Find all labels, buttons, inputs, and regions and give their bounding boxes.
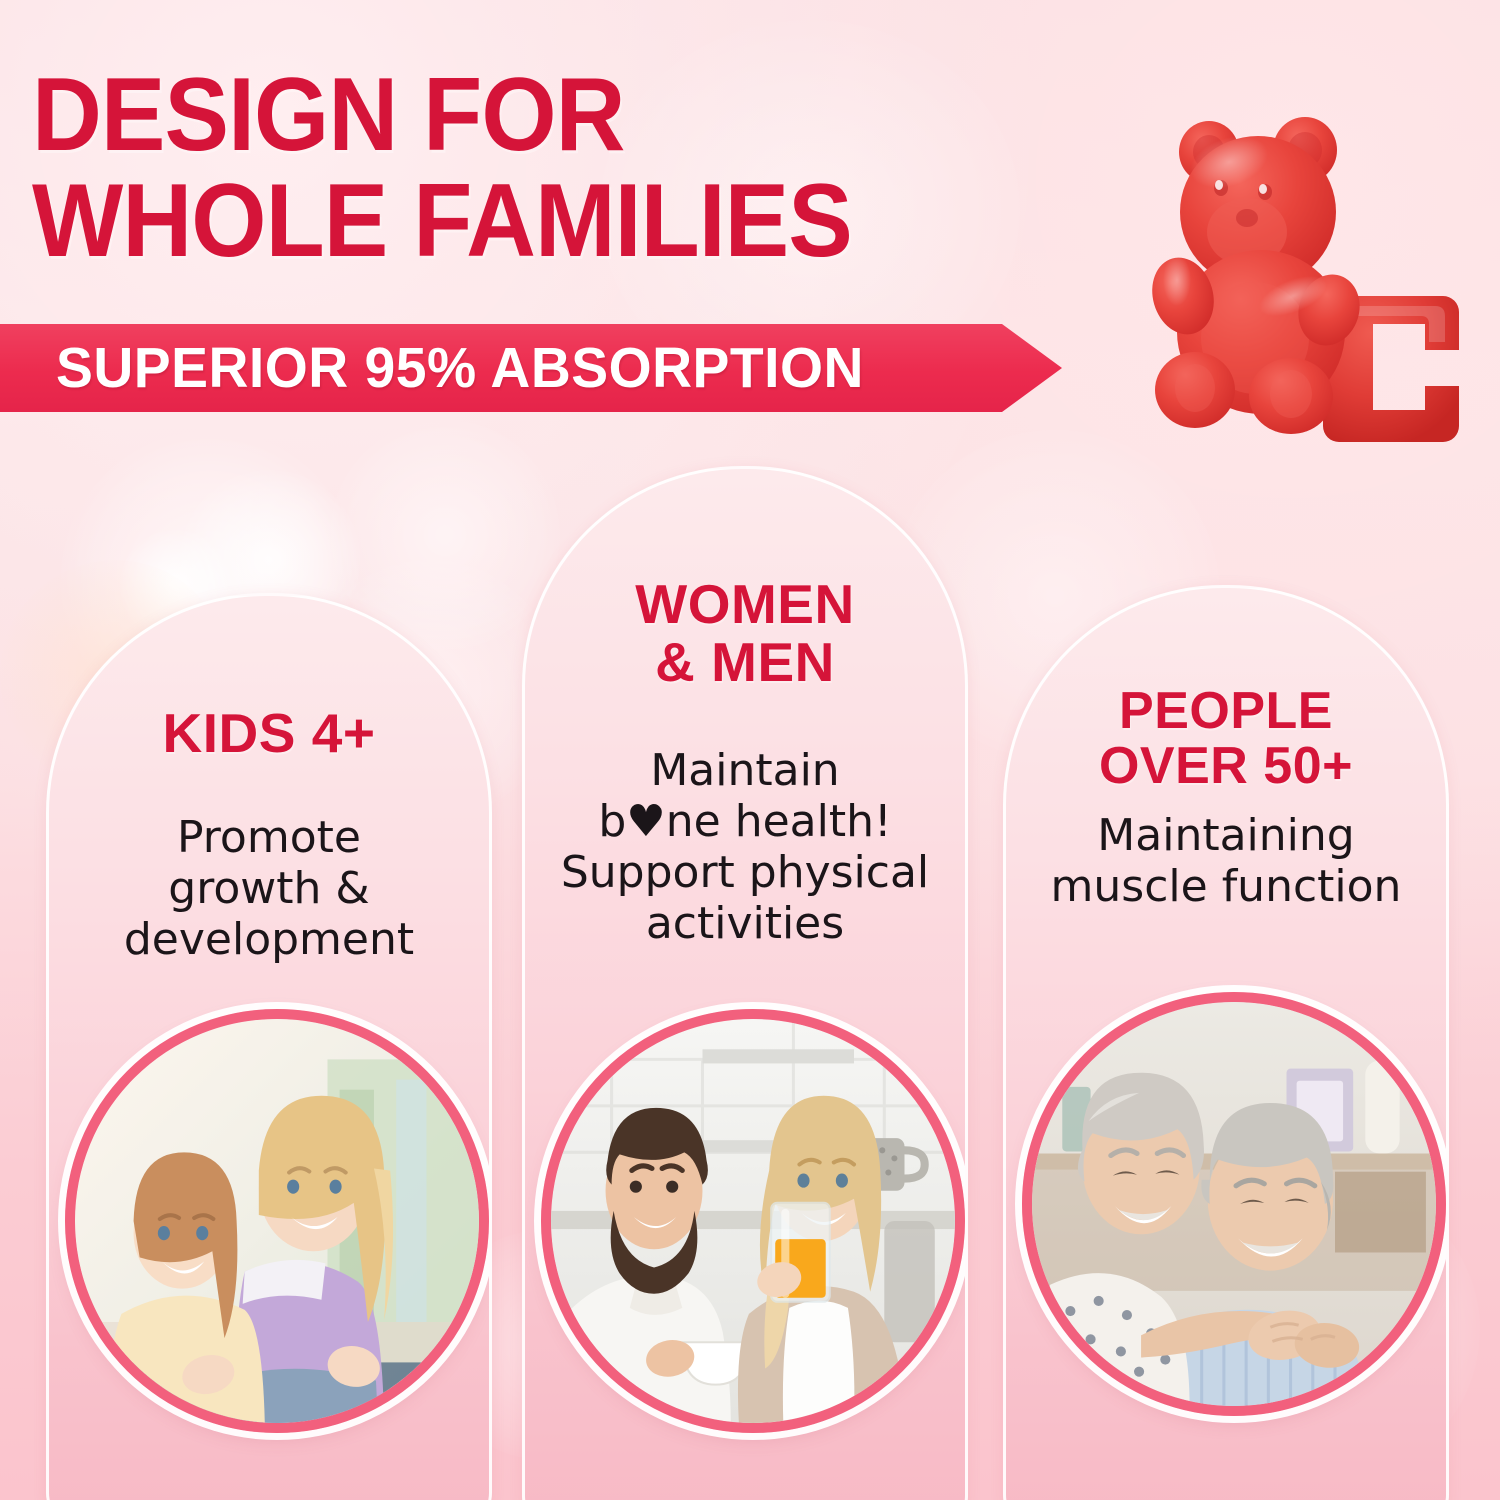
audience-card-kids: KIDS 4+ Promote growth & development [46,593,492,1500]
photo-mother-and-daughter [65,1009,489,1433]
card-body-kids: Promote growth & development [67,812,471,965]
photo-couple-in-kitchen [541,1009,965,1433]
card-title-line: & MEN [525,633,965,691]
headline-line-1: DESIGN FOR [32,62,1018,168]
card-body-line: development [67,914,471,965]
card-title-kids: KIDS 4+ [49,704,489,762]
card-body-line: Maintaining [1024,810,1428,861]
promo-graphic: DESIGN FOR WHOLE FAMILIES SUPERIOR 95% A… [0,0,1500,1500]
card-body-line: Support physical [543,847,947,898]
card-title-line: PEOPLE [1006,684,1446,739]
card-title-line: OVER 50+ [1006,739,1446,794]
card-title-women-men: WOMEN & MEN [525,575,965,692]
audience-card-seniors: PEOPLE OVER 50+ Maintaining muscle funct… [1003,585,1449,1500]
card-body-line: Promote [67,812,471,863]
audience-card-women-men: WOMEN & MEN Maintain b♥ne health! Suppor… [522,466,968,1500]
card-body-line: muscle function [1024,861,1428,912]
gummy-bear-icon [1143,100,1500,460]
headline-line-2: WHOLE FAMILIES [32,168,1018,274]
card-body-line-heart: b♥ne health! [543,796,947,847]
absorption-banner-label: SUPERIOR 95% ABSORPTION [56,336,864,400]
card-title-line: WOMEN [525,575,965,633]
card-title-seniors: PEOPLE OVER 50+ [1006,684,1446,794]
card-body-seniors: Maintaining muscle function [1024,810,1428,912]
card-body-women-men: Maintain b♥ne health! Support physical a… [543,745,947,949]
card-body-line: activities [543,898,947,949]
card-body-line: Maintain [543,745,947,796]
photo-senior-couple [1022,992,1446,1416]
page-title: DESIGN FOR WHOLE FAMILIES [32,62,1018,274]
card-body-line: growth & [67,863,471,914]
